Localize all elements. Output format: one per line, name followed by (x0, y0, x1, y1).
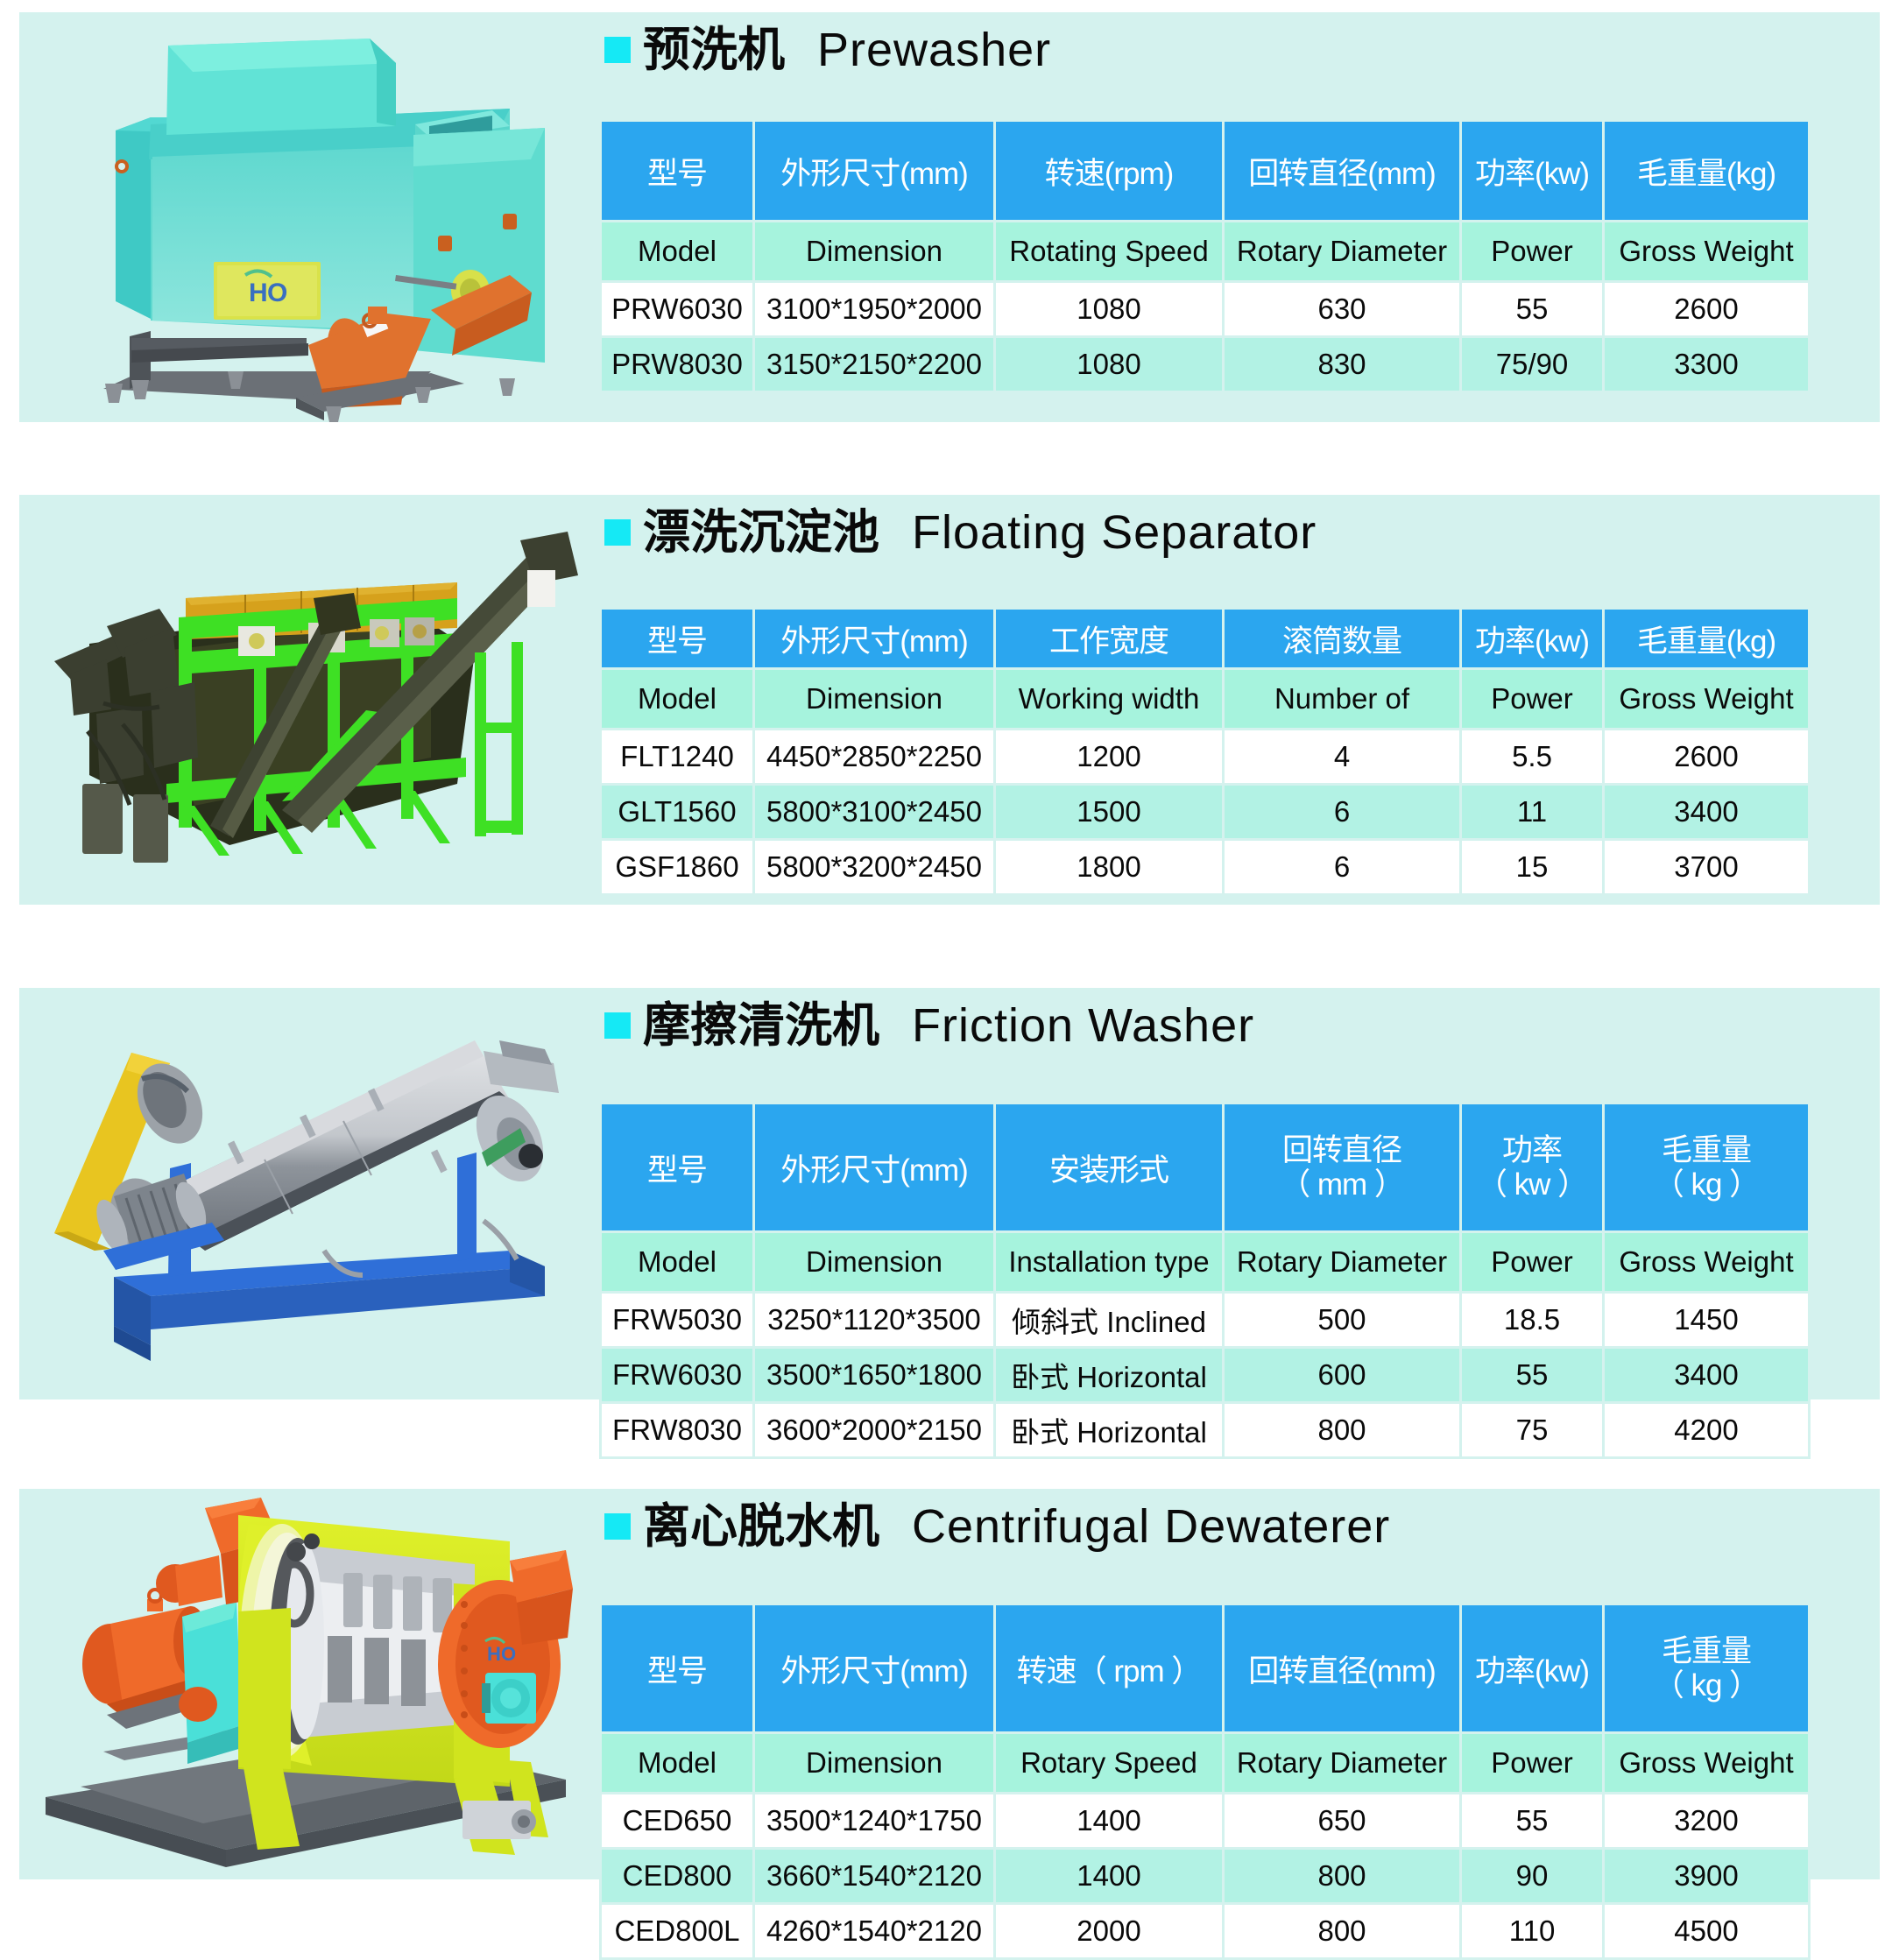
header-en-working-width: Working width (996, 670, 1222, 728)
table-row: CED650 3500*1240*1750 1400 650 55 3200 (602, 1794, 1808, 1847)
table-header-row-en: Model Dimension Working width Number of … (602, 670, 1808, 728)
cell-power: 75 (1462, 1404, 1602, 1456)
friction-washer-content-column: 摩擦清洗机 Friction Washer 型号 外形尺寸(mm) 安装形式 (589, 988, 1880, 1399)
cell-power: 18.5 (1462, 1294, 1602, 1346)
header-cn-weight: 毛重量 （ kg ） (1605, 1605, 1808, 1731)
cell-weight: 3300 (1605, 338, 1808, 391)
cell-working-width: 1200 (996, 730, 1222, 783)
prewasher-machine-photo: H O (19, 12, 589, 422)
cell-dimension: 3500*1240*1750 (755, 1794, 993, 1847)
cell-model: GLT1560 (602, 786, 752, 838)
table-row: GSF1860 5800*3200*2450 1800 6 15 3700 (602, 841, 1808, 893)
bullet-square-icon (604, 519, 631, 546)
cell-power: 5.5 (1462, 730, 1602, 783)
header-cn-power: 功率(kw) (1462, 122, 1602, 220)
header-en-weight: Gross Weight (1605, 222, 1808, 280)
floating-separator-heading: 漂洗沉淀池 Floating Separator (596, 495, 1880, 570)
table-header-row-cn: 型号 外形尺寸(mm) 工作宽度 滚筒数量 功率(kw) 毛重量(kg) (602, 610, 1808, 667)
cell-weight: 3900 (1605, 1850, 1808, 1902)
cell-dimension: 3500*1650*1800 (755, 1349, 993, 1401)
cell-dimension: 3100*1950*2000 (755, 283, 993, 335)
header-cn-model: 型号 (602, 610, 752, 667)
cell-weight: 1450 (1605, 1294, 1808, 1346)
header-cn-diameter: 回转直径 （ mm ） (1225, 1104, 1459, 1230)
cell-model: FLT1240 (602, 730, 752, 783)
centrifugal-dewaterer-photo-column: H O (19, 1489, 589, 1879)
cell-dimension: 4450*2850*2250 (755, 730, 993, 783)
prewasher-content-column: 预洗机 Prewasher 型号 外形尺寸(mm) 转速(rpm) 回转直径(m… (589, 12, 1880, 422)
table-row: FLT1240 4450*2850*2250 1200 4 5.5 2600 (602, 730, 1808, 783)
header-en-weight: Gross Weight (1605, 1734, 1808, 1792)
table-header-row-en: Model Dimension Installation type Rotary… (602, 1233, 1808, 1291)
floating-separator-title-en: Floating Separator (912, 506, 1317, 559)
header-cn-diameter: 回转直径(mm) (1225, 1605, 1459, 1731)
centrifugal-dewaterer-title-cn: 离心脱水机 (643, 1500, 879, 1553)
header-cn-drum-count: 滚筒数量 (1225, 610, 1459, 667)
cell-model: FRW8030 (602, 1404, 752, 1456)
cell-weight: 4500 (1605, 1905, 1808, 1957)
cell-speed: 1400 (996, 1794, 1222, 1847)
cell-model: PRW6030 (602, 283, 752, 335)
cell-diameter: 650 (1225, 1794, 1459, 1847)
cell-drum-count: 4 (1225, 730, 1459, 783)
cell-power: 15 (1462, 841, 1602, 893)
floating-separator-spec-table: 型号 外形尺寸(mm) 工作宽度 滚筒数量 功率(kw) 毛重量(kg) Mod… (599, 607, 1811, 896)
header-cn-working-width: 工作宽度 (996, 610, 1222, 667)
header-cn-dimension: 外形尺寸(mm) (755, 1605, 993, 1731)
cell-speed: 1080 (996, 338, 1222, 391)
bullet-square-icon (604, 37, 631, 63)
cell-power: 55 (1462, 283, 1602, 335)
prewasher-photo-column: H O (19, 12, 589, 422)
cell-working-width: 1800 (996, 841, 1222, 893)
header-en-diameter: Rotary Diameter (1225, 222, 1459, 280)
header-en-dimension: Dimension (755, 1734, 993, 1792)
header-en-speed: Rotating Speed (996, 222, 1222, 280)
cell-model: CED800 (602, 1850, 752, 1902)
section-centrifugal-dewaterer: H O (19, 1489, 1880, 1879)
prewasher-title-en: Prewasher (817, 24, 1051, 76)
table-header-row-cn: 型号 外形尺寸(mm) 转速（ rpm ） 回转直径(mm) 功率(kw) 毛重… (602, 1605, 1808, 1731)
bullet-square-icon (604, 1012, 631, 1039)
cell-weight: 3400 (1605, 1349, 1808, 1401)
cell-dimension: 3150*2150*2200 (755, 338, 993, 391)
header-cn-power: 功率 （ kw ） (1462, 1104, 1602, 1230)
cell-model: PRW8030 (602, 338, 752, 391)
cell-diameter: 630 (1225, 283, 1459, 335)
centrifugal-dewaterer-content-column: 离心脱水机 Centrifugal Dewaterer 型号 外形尺寸(mm) … (589, 1489, 1880, 1879)
cell-model: GSF1860 (602, 841, 752, 893)
cell-speed: 1080 (996, 283, 1222, 335)
header-cn-weight: 毛重量(kg) (1605, 122, 1808, 220)
header-en-weight: Gross Weight (1605, 1233, 1808, 1291)
section-floating-separator: 漂洗沉淀池 Floating Separator 型号 外形尺寸(mm) 工作宽… (19, 495, 1880, 905)
header-cn-model: 型号 (602, 1104, 752, 1230)
cell-dimension: 3660*1540*2120 (755, 1850, 993, 1902)
header-en-power: Power (1462, 222, 1602, 280)
cell-power: 75/90 (1462, 338, 1602, 391)
cell-power: 55 (1462, 1794, 1602, 1847)
cell-installation: 卧式 Horizontal (996, 1404, 1222, 1456)
cell-dimension: 5800*3200*2450 (755, 841, 993, 893)
header-cn-diameter-l1: 回转直径 (1282, 1133, 1401, 1167)
friction-washer-photo-column (19, 988, 589, 1399)
header-cn-power-l2: （ kw ） (1477, 1167, 1587, 1202)
header-cn-model: 型号 (602, 122, 752, 220)
cell-diameter: 600 (1225, 1349, 1459, 1401)
header-cn-weight: 毛重量 （ kg ） (1605, 1104, 1808, 1230)
header-en-speed: Rotary Speed (996, 1734, 1222, 1792)
header-en-power: Power (1462, 1233, 1602, 1291)
cell-power: 110 (1462, 1905, 1602, 1957)
cell-power: 90 (1462, 1850, 1602, 1902)
cell-weight: 3700 (1605, 841, 1808, 893)
floating-separator-heading-text: 漂洗沉淀池 Floating Separator (643, 509, 1317, 556)
friction-washer-machine-photo (19, 988, 589, 1399)
floating-separator-photo-column (19, 495, 589, 905)
friction-washer-table-wrap: 型号 外形尺寸(mm) 安装形式 回转直径 （ mm ） 功率 （ kw ） (589, 1102, 1811, 1459)
header-cn-installation: 安装形式 (996, 1104, 1222, 1230)
header-cn-weight-l2: （ kg ） (1654, 1668, 1759, 1703)
cell-installation: 倾斜式 Inclined (996, 1294, 1222, 1346)
header-en-power: Power (1462, 670, 1602, 728)
cell-diameter: 800 (1225, 1850, 1459, 1902)
header-cn-power-l1: 功率 (1502, 1133, 1562, 1167)
svg-text:O: O (501, 1643, 516, 1665)
cell-diameter: 800 (1225, 1905, 1459, 1957)
floating-separator-content-column: 漂洗沉淀池 Floating Separator 型号 外形尺寸(mm) 工作宽… (589, 495, 1880, 905)
cell-weight: 2600 (1605, 283, 1808, 335)
header-en-drum-count: Number of (1225, 670, 1459, 728)
header-cn-power: 功率(kw) (1462, 1605, 1602, 1731)
centrifugal-dewaterer-heading-text: 离心脱水机 Centrifugal Dewaterer (643, 1503, 1390, 1550)
table-row: CED800L 4260*1540*2120 2000 800 110 4500 (602, 1905, 1808, 1957)
centrifugal-dewaterer-machine-photo: H O (19, 1489, 589, 1879)
header-en-diameter: Rotary Diameter (1225, 1734, 1459, 1792)
friction-washer-title-cn: 摩擦清洗机 (643, 999, 879, 1052)
header-cn-power: 功率(kw) (1462, 610, 1602, 667)
bullet-square-icon (604, 1513, 631, 1540)
friction-washer-spec-table: 型号 外形尺寸(mm) 安装形式 回转直径 （ mm ） 功率 （ kw ） (599, 1102, 1811, 1459)
friction-washer-heading: 摩擦清洗机 Friction Washer (596, 988, 1880, 1063)
svg-text:H: H (487, 1643, 501, 1665)
cell-drum-count: 6 (1225, 841, 1459, 893)
cell-weight: 4200 (1605, 1404, 1808, 1456)
header-cn-dimension: 外形尺寸(mm) (755, 1104, 993, 1230)
header-en-model: Model (602, 222, 752, 280)
header-cn-weight-l2: （ kg ） (1654, 1167, 1759, 1202)
table-row: PRW8030 3150*2150*2200 1080 830 75/90 33… (602, 338, 1808, 391)
table-row: FRW6030 3500*1650*1800 卧式 Horizontal 600… (602, 1349, 1808, 1401)
cell-speed: 1400 (996, 1850, 1222, 1902)
section-prewasher: H O (19, 12, 1880, 422)
cell-dimension: 4260*1540*2120 (755, 1905, 993, 1957)
floating-separator-title-cn: 漂洗沉淀池 (643, 506, 879, 559)
header-cn-diameter: 回转直径(mm) (1225, 122, 1459, 220)
friction-washer-title-en: Friction Washer (912, 999, 1254, 1052)
table-header-row-cn: 型号 外形尺寸(mm) 安装形式 回转直径 （ mm ） 功率 （ kw ） (602, 1104, 1808, 1230)
header-cn-diameter-l2: （ mm ） (1280, 1167, 1404, 1202)
header-en-weight: Gross Weight (1605, 670, 1808, 728)
friction-washer-heading-text: 摩擦清洗机 Friction Washer (643, 1002, 1254, 1049)
table-row: FRW8030 3600*2000*2150 卧式 Horizontal 800… (602, 1404, 1808, 1456)
table-row: FRW5030 3250*1120*3500 倾斜式 Inclined 500 … (602, 1294, 1808, 1346)
cell-diameter: 500 (1225, 1294, 1459, 1346)
cell-weight: 2600 (1605, 730, 1808, 783)
cell-model: CED800L (602, 1905, 752, 1957)
cell-drum-count: 6 (1225, 786, 1459, 838)
floating-separator-machine-photo (19, 495, 589, 905)
header-cn-weight: 毛重量(kg) (1605, 610, 1808, 667)
header-en-power: Power (1462, 1734, 1602, 1792)
header-cn-dimension: 外形尺寸(mm) (755, 610, 993, 667)
centrifugal-dewaterer-spec-table: 型号 外形尺寸(mm) 转速（ rpm ） 回转直径(mm) 功率(kw) 毛重… (599, 1603, 1811, 1960)
table-header-row-en: Model Dimension Rotary Speed Rotary Diam… (602, 1734, 1808, 1792)
cell-diameter: 800 (1225, 1404, 1459, 1456)
cell-weight: 3400 (1605, 786, 1808, 838)
centrifugal-dewaterer-heading: 离心脱水机 Centrifugal Dewaterer (596, 1489, 1880, 1564)
header-en-dimension: Dimension (755, 1233, 993, 1291)
header-cn-weight-l1: 毛重量 (1662, 1634, 1751, 1668)
header-en-dimension: Dimension (755, 222, 993, 280)
table-header-row-cn: 型号 外形尺寸(mm) 转速(rpm) 回转直径(mm) 功率(kw) 毛重量(… (602, 122, 1808, 220)
header-cn-weight-l1: 毛重量 (1662, 1133, 1751, 1167)
prewasher-title-cn: 预洗机 (643, 24, 785, 76)
header-en-dimension: Dimension (755, 670, 993, 728)
centrifugal-dewaterer-table-wrap: 型号 外形尺寸(mm) 转速（ rpm ） 回转直径(mm) 功率(kw) 毛重… (589, 1603, 1811, 1960)
centrifugal-dewaterer-title-en: Centrifugal Dewaterer (912, 1500, 1390, 1553)
table-row: PRW6030 3100*1950*2000 1080 630 55 2600 (602, 283, 1808, 335)
cell-power: 55 (1462, 1349, 1602, 1401)
cell-model: CED650 (602, 1794, 752, 1847)
cell-working-width: 1500 (996, 786, 1222, 838)
floating-separator-table-wrap: 型号 外形尺寸(mm) 工作宽度 滚筒数量 功率(kw) 毛重量(kg) Mod… (589, 607, 1811, 896)
prewasher-spec-table: 型号 外形尺寸(mm) 转速(rpm) 回转直径(mm) 功率(kw) 毛重量(… (599, 119, 1811, 393)
prewasher-table-wrap: 型号 外形尺寸(mm) 转速(rpm) 回转直径(mm) 功率(kw) 毛重量(… (589, 119, 1811, 393)
header-en-diameter: Rotary Diameter (1225, 1233, 1459, 1291)
table-row: GLT1560 5800*3100*2450 1500 6 11 3400 (602, 786, 1808, 838)
cell-model: FRW5030 (602, 1294, 752, 1346)
header-en-model: Model (602, 1233, 752, 1291)
table-row: CED800 3660*1540*2120 1400 800 90 3900 (602, 1850, 1808, 1902)
header-en-model: Model (602, 670, 752, 728)
cell-dimension: 5800*3100*2450 (755, 786, 993, 838)
cell-installation: 卧式 Horizontal (996, 1349, 1222, 1401)
cell-diameter: 830 (1225, 338, 1459, 391)
catalog-page: H O (0, 0, 1899, 1887)
header-cn-speed: 转速(rpm) (996, 122, 1222, 220)
cell-power: 11 (1462, 786, 1602, 838)
cell-weight: 3200 (1605, 1794, 1808, 1847)
prewasher-heading-text: 预洗机 Prewasher (643, 26, 1051, 74)
header-cn-model: 型号 (602, 1605, 752, 1731)
svg-text:H: H (249, 278, 268, 307)
svg-text:O: O (267, 278, 287, 307)
prewasher-heading: 预洗机 Prewasher (596, 12, 1880, 88)
cell-dimension: 3600*2000*2150 (755, 1404, 993, 1456)
table-header-row-en: Model Dimension Rotating Speed Rotary Di… (602, 222, 1808, 280)
header-en-model: Model (602, 1734, 752, 1792)
cell-model: FRW6030 (602, 1349, 752, 1401)
header-cn-dimension: 外形尺寸(mm) (755, 122, 993, 220)
header-cn-speed: 转速（ rpm ） (996, 1605, 1222, 1731)
cell-speed: 2000 (996, 1905, 1222, 1957)
cell-dimension: 3250*1120*3500 (755, 1294, 993, 1346)
header-en-installation: Installation type (996, 1233, 1222, 1291)
section-friction-washer: 摩擦清洗机 Friction Washer 型号 外形尺寸(mm) 安装形式 (19, 988, 1880, 1399)
